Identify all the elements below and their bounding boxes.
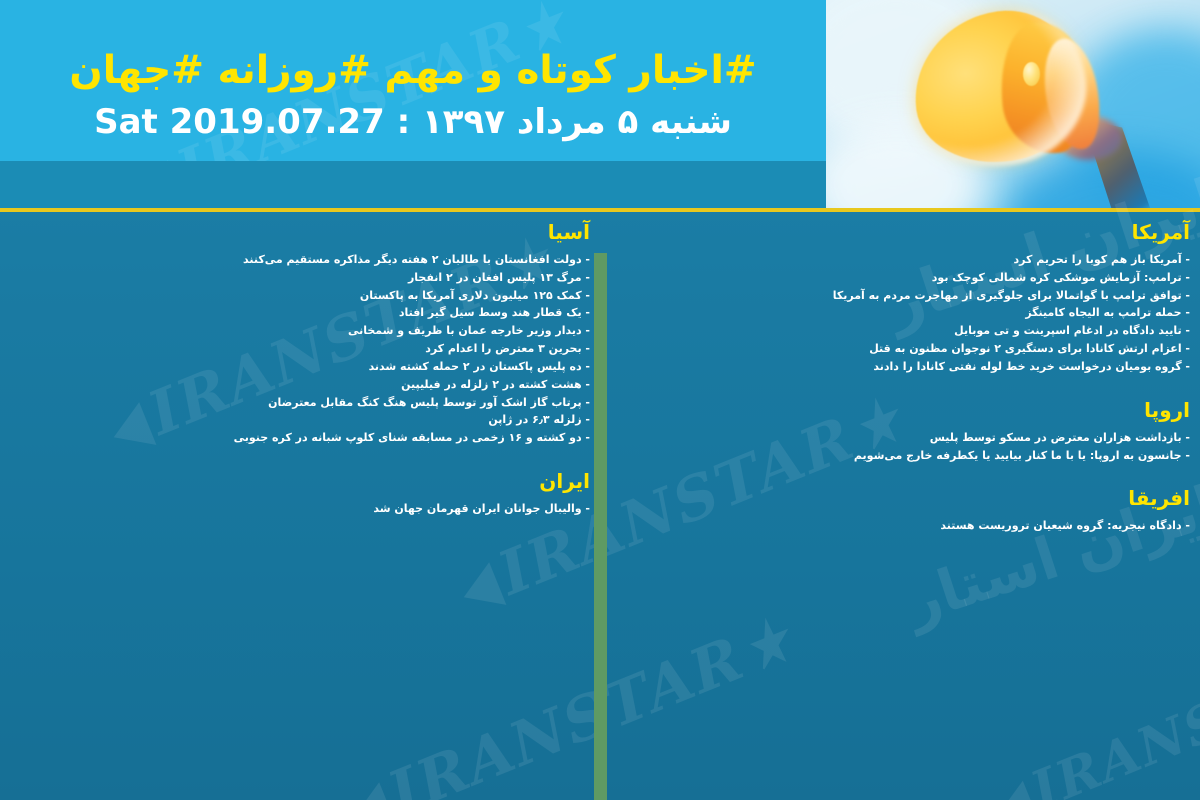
news-item: - دولت افغانستان با طالبان ۲ هفته دیگر م… (10, 251, 590, 269)
news-item: - ترامپ: آزمایش موشکی کره شمالی کوچک بود (610, 269, 1190, 287)
calla-lily-icon (896, 4, 1146, 208)
news-item: - دیدار وزیر خارجه عمان با ظریف و شمخانی (10, 322, 590, 340)
region-heading: اروپا (610, 398, 1190, 423)
news-item: - تایید دادگاه در ادغام اسپرینت و تی موب… (610, 322, 1190, 340)
news-item: - کمک ۱۲۵ میلیون دلاری آمریکا به پاکستان (10, 287, 590, 305)
news-column-left: آسیا- دولت افغانستان با طالبان ۲ هفته دی… (10, 212, 590, 520)
watermark-arrow-icon: ◀ (339, 766, 401, 800)
news-item: - بحرین ۳ معترض را اعدام کرد (10, 340, 590, 358)
news-column-right: آمریکا- آمریکا باز هم کوبا را تحریم کرد-… (610, 212, 1190, 537)
column-divider (594, 253, 607, 800)
news-item: - آمریکا باز هم کوبا را تحریم کرد (610, 251, 1190, 269)
news-item: - جانسون به اروپا: یا با ما کنار بیایید … (610, 447, 1190, 465)
news-item: - یک قطار هند وسط سیل گیر افتاد (10, 304, 590, 322)
news-item: - دادگاه نیجریه: گروه شیعیان تروریست هست… (610, 517, 1190, 535)
news-item: - حمله ترامپ به الیجاه کامینگز (610, 304, 1190, 322)
hero-flower-image (826, 0, 1200, 208)
region-heading: آسیا (10, 220, 590, 245)
date-gregorian: Sat 2019.07.27 (94, 102, 385, 142)
watermark-arrow-icon: ◀ (988, 767, 1042, 800)
region-heading: ایران (10, 469, 590, 494)
watermark-iranstar-left-lower: ◀IRANSTAR★ (334, 603, 806, 800)
news-infographic: ◀IRANSTAR★ #اخبار کوتاه و مهم #روزانه #ج… (0, 0, 1200, 800)
news-item: - دو کشته و ۱۶ زخمی در مسابقه شنای کلوپ … (10, 429, 590, 447)
news-item: - بازداشت هزاران معترض در مسکو توسط پلیس (610, 429, 1190, 447)
page-title: #اخبار کوتاه و مهم #روزانه #جهان (0, 50, 826, 93)
region-spacer (610, 466, 1190, 478)
watermark-star-icon: ★ (733, 605, 801, 687)
news-region: آمریکا- آمریکا باز هم کوبا را تحریم کرد-… (610, 220, 1190, 376)
watermark-arrow-icon: ◀ (129, 144, 189, 161)
news-region: آسیا- دولت افغانستان با طالبان ۲ هفته دی… (10, 220, 590, 447)
news-item: - گروه بومیان درخواست خرید خط لوله نفتی … (610, 358, 1190, 376)
region-spacer (610, 378, 1190, 390)
news-item: - اعزام ارتش کانادا برای دستگیری ۲ نوجوا… (610, 340, 1190, 358)
header-band: ◀IRANSTAR★ #اخبار کوتاه و مهم #روزانه #ج… (0, 0, 826, 161)
news-region: ایران- والیبال جوانان ایران قهرمان جهان … (10, 469, 590, 518)
date-persian: شنبه ۵ مرداد ۱۳۹۷ : (397, 102, 732, 142)
news-item: - ده پلیس پاکستان در ۲ حمله کشته شدند (10, 358, 590, 376)
region-heading: افریقا (610, 486, 1190, 511)
news-region: افریقا- دادگاه نیجریه: گروه شیعیان تروری… (610, 486, 1190, 535)
news-item: - پرتاب گاز اشک آور توسط پلیس هنگ کنگ مق… (10, 394, 590, 412)
lily-spadix (1023, 62, 1040, 86)
news-item: - مرگ ۱۳ پلیس افغان در ۲ انفجار (10, 269, 590, 287)
region-spacer (10, 449, 590, 461)
news-item: - زلزله ۶٫۳ در ژاپن (10, 411, 590, 429)
news-region: اروپا- بازداشت هزاران معترض در مسکو توسط… (610, 398, 1190, 465)
region-heading: آمریکا (610, 220, 1190, 245)
news-item: - هشت کشته در ۲ زلزله در فیلیپین (10, 376, 590, 394)
header-url-band: iranstar.com/fa/20190727 (0, 161, 826, 208)
page-date: شنبه ۵ مرداد ۱۳۹۷ : Sat 2019.07.27 (0, 102, 826, 142)
watermark-iranstar-right-lower: ◀IRANSTAR★ (984, 624, 1200, 800)
watermark-arrow-icon: ◀ (449, 546, 511, 625)
news-item: - والیبال جوانان ایران قهرمان جهان شد (10, 500, 590, 518)
news-item: - توافق ترامپ با گواتمالا برای جلوگیری ا… (610, 287, 1190, 305)
